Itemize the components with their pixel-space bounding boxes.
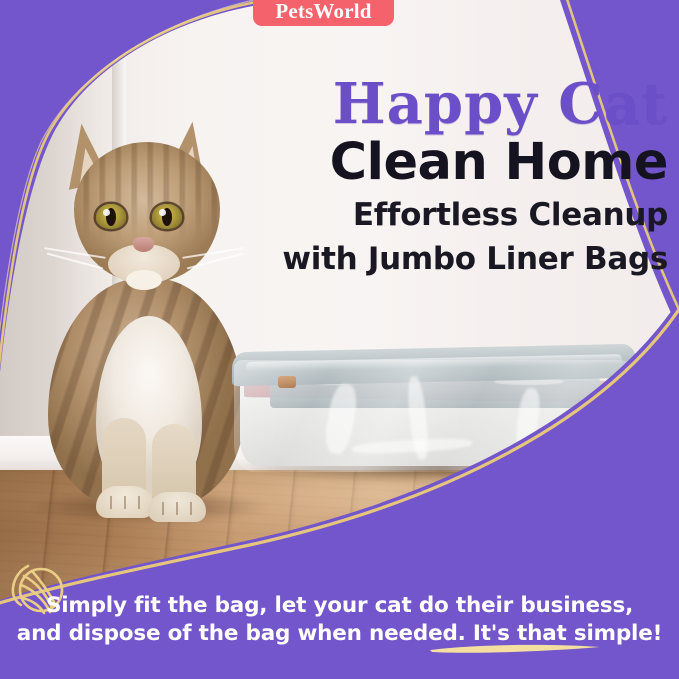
footer-caption: Simply fit the bag, let your cat do thei…	[0, 592, 679, 647]
brand-logo-badge[interactable]: PetsWorld	[253, 0, 394, 26]
brand-logo-text: PetsWorld	[275, 1, 371, 22]
headline-line-1: Happy Cat	[236, 76, 668, 132]
headline-line-2: Clean Home	[236, 136, 668, 190]
caption-line-2: and dispose of the bag when needed. It's…	[0, 620, 679, 648]
product-ad-banner: PetsWorld Happy Cat Clean Home Effortles…	[0, 0, 679, 679]
headline-block: Happy Cat Clean Home Effortless Cleanup …	[236, 76, 668, 277]
subheadline-line-1: Effortless Cleanup	[236, 198, 668, 234]
caption-line-1: Simply fit the bag, let your cat do thei…	[46, 593, 633, 618]
subheadline-line-2: with Jumbo Liner Bags	[236, 242, 668, 278]
